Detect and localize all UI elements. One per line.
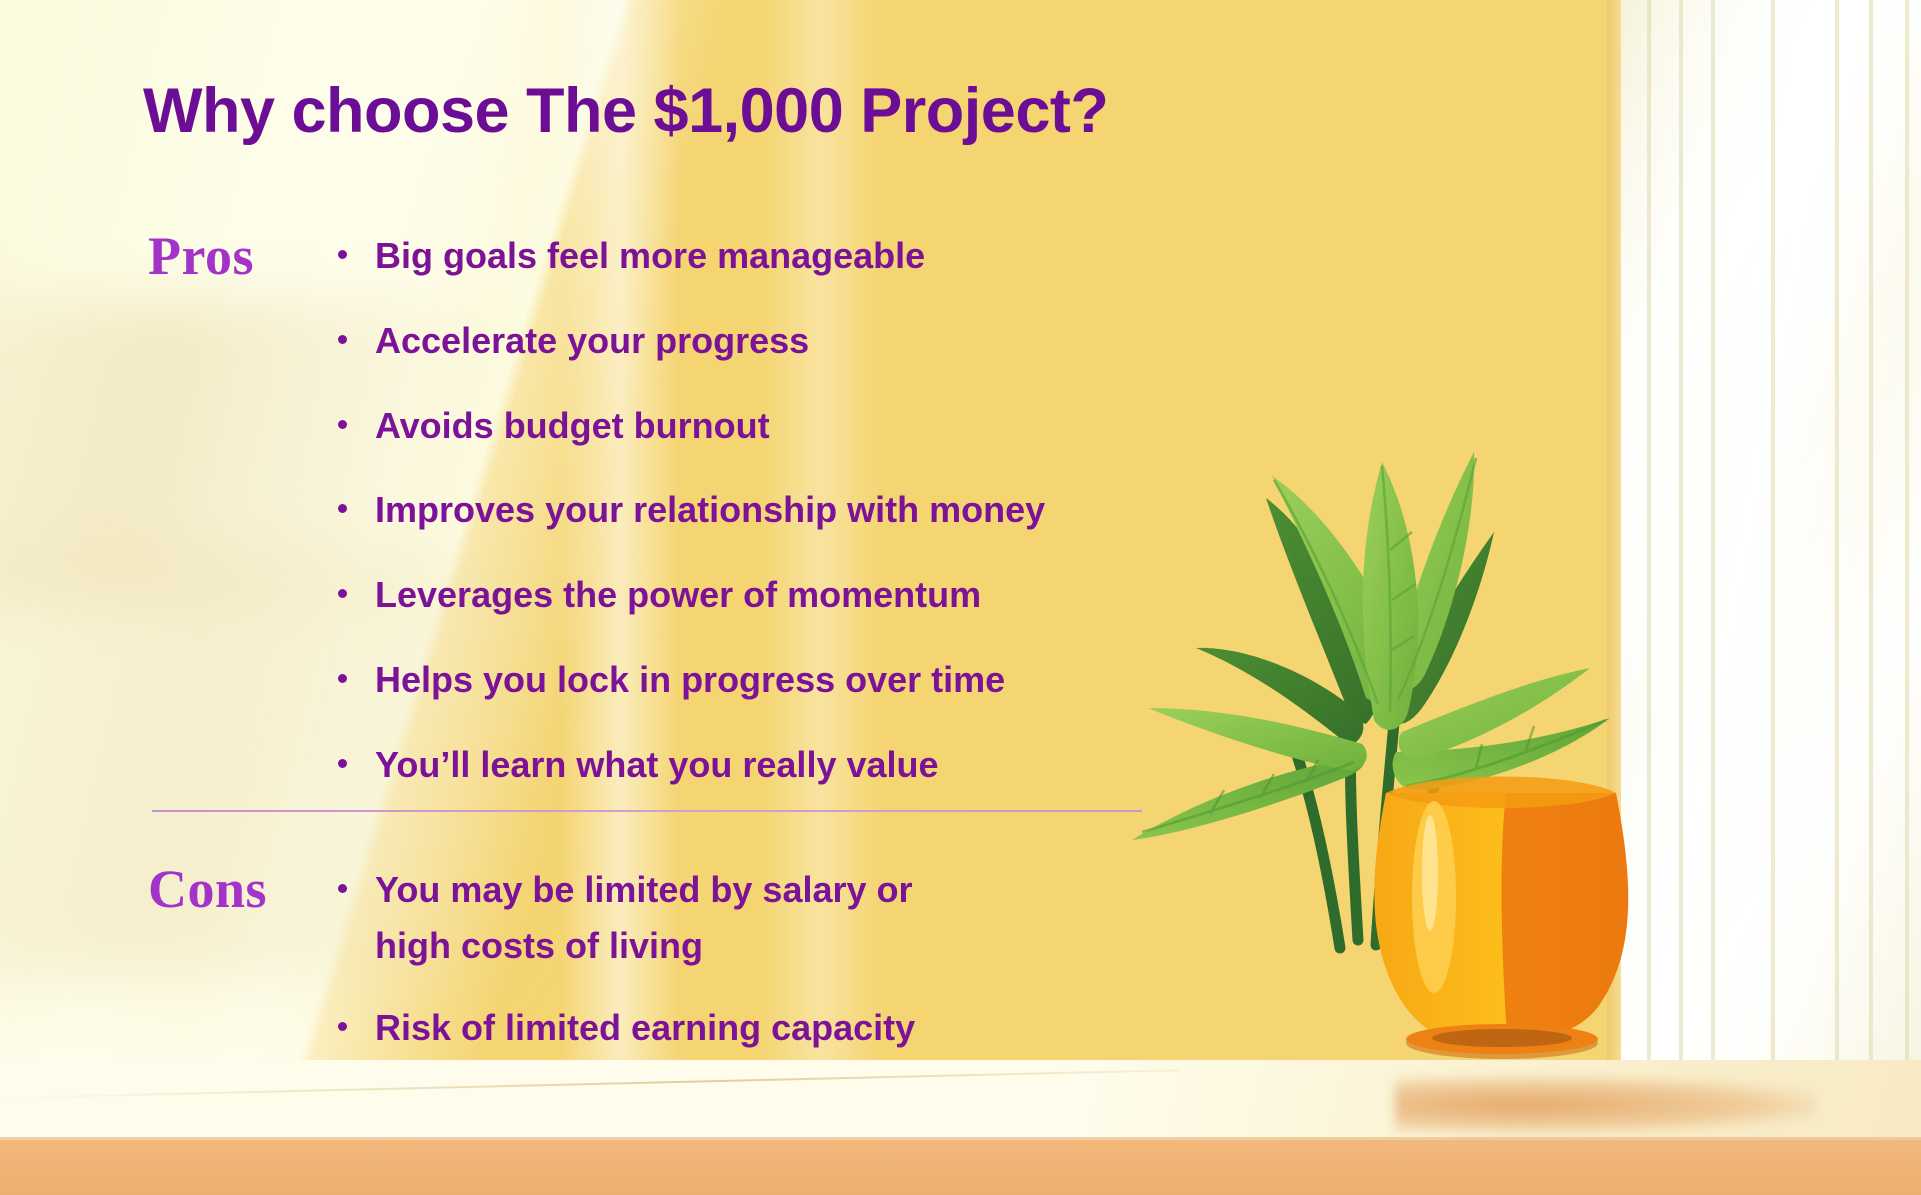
curtain-fold-7 <box>1905 0 1909 1085</box>
bullet-dot-icon <box>338 335 347 344</box>
curtain-fold-6 <box>1869 0 1873 1085</box>
bullet-dot-icon <box>338 589 347 598</box>
slide-content: Why choose The $1,000 Project? Pros Big … <box>0 0 1250 1195</box>
pros-list: Big goals feel more manageable Accelerat… <box>330 228 1230 822</box>
curtain-fold-4 <box>1771 0 1775 1085</box>
cons-section-label: Cons <box>148 858 267 920</box>
list-item-text: Helps you lock in progress over time <box>375 652 1195 708</box>
list-item-text: Leverages the power of momentum <box>375 567 1195 623</box>
slide-canvas: Why choose The $1,000 Project? Pros Big … <box>0 0 1921 1195</box>
list-item: Big goals feel more manageable <box>330 228 1230 284</box>
bullet-dot-icon <box>338 759 347 768</box>
list-item: You may be limited by salary or high cos… <box>330 862 1230 974</box>
list-item: Accelerate your progress <box>330 313 1230 369</box>
curtain-fold-2 <box>1679 0 1683 1085</box>
section-divider <box>152 810 1142 812</box>
list-item-text: You may be limited by salary or high cos… <box>375 862 990 974</box>
list-item-text: Improves your relationship with money <box>375 482 1195 538</box>
pot-cast-shadow <box>1395 1077 1815 1133</box>
list-item: Improves your relationship with money <box>330 482 1230 538</box>
list-item-text: Risk of limited earning capacity <box>375 1000 1195 1056</box>
list-item: You’ll learn what you really value <box>330 737 1230 793</box>
curtain-fold-3 <box>1711 0 1715 1085</box>
bullet-dot-icon <box>338 674 347 683</box>
bullet-dot-icon <box>338 250 347 259</box>
list-item: Leverages the power of momentum <box>330 567 1230 623</box>
bullet-dot-icon <box>338 504 347 513</box>
list-item-text: Big goals feel more manageable <box>375 228 1195 284</box>
flower-pot <box>1330 755 1670 1075</box>
curtain-fold-5 <box>1835 0 1839 1085</box>
list-item: Risk of limited earning capacity <box>330 1000 1230 1056</box>
list-item-text: You’ll learn what you really value <box>375 737 1195 793</box>
bullet-dot-icon <box>338 420 347 429</box>
list-item: Helps you lock in progress over time <box>330 652 1230 708</box>
pros-section-label: Pros <box>148 225 254 287</box>
list-item-text: Accelerate your progress <box>375 313 1195 369</box>
bullet-dot-icon <box>338 884 347 893</box>
bullet-dot-icon <box>338 1022 347 1031</box>
cons-list: You may be limited by salary or high cos… <box>330 862 1230 1081</box>
list-item: Avoids budget burnout <box>330 398 1230 454</box>
list-item-text: Avoids budget burnout <box>375 398 1195 454</box>
page-title: Why choose The $1,000 Project? <box>143 78 1108 144</box>
